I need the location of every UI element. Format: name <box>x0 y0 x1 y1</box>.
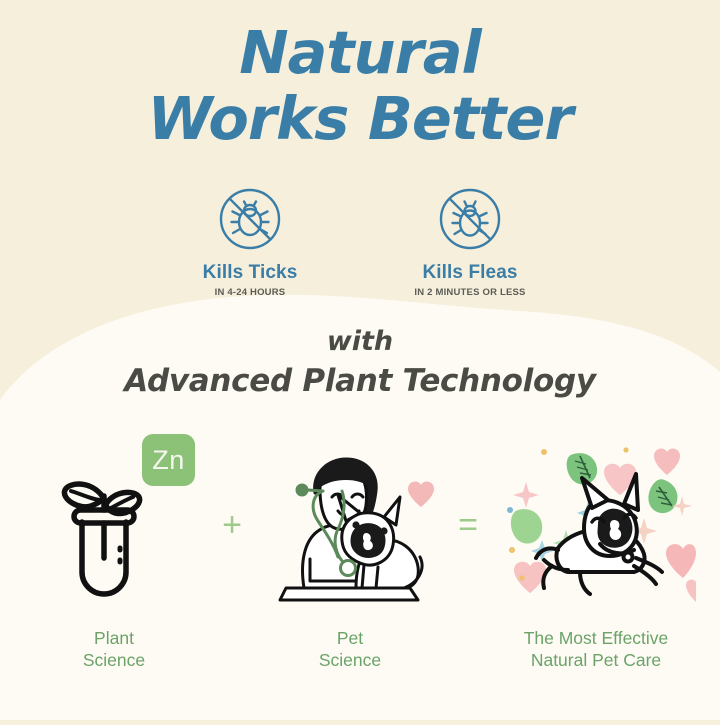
label-line-1: The Most Effective <box>524 628 669 648</box>
poster-canvas: Natural Works Better <box>0 0 720 720</box>
equation-item-pet-science: Pet Science <box>255 430 445 672</box>
plus-operator: + <box>209 430 255 620</box>
label-line-1: Plant <box>94 628 134 648</box>
claim-subtitle: IN 2 MINUTES OR LESS <box>390 287 550 298</box>
equation-item-plant-science: Zn <box>19 430 209 672</box>
equals-operator: = <box>445 430 491 620</box>
label-line-2: Natural Pet Care <box>531 650 661 670</box>
happy-dog-icon <box>491 430 701 620</box>
zinc-badge: Zn <box>142 434 195 486</box>
equation-item-label: Plant Science <box>19 628 209 672</box>
heart-shape <box>408 481 434 506</box>
claims-row: Kills Ticks IN 4-24 HOURS <box>0 182 720 298</box>
no-tick-icon <box>170 182 330 256</box>
claim-title: Kills Fleas <box>390 262 550 284</box>
page-title: Natural Works Better <box>0 24 720 148</box>
no-flea-icon <box>390 182 550 256</box>
label-line-2: Science <box>319 650 381 670</box>
label-line-1: Pet <box>337 628 363 648</box>
subhead-line-1: with <box>0 326 720 357</box>
equation-item-label: Pet Science <box>255 628 445 672</box>
claim-subtitle: IN 4-24 HOURS <box>170 287 330 298</box>
headline-line-1: Natural <box>0 24 720 82</box>
test-tube-plant-icon: Zn <box>19 430 209 620</box>
label-line-2: Science <box>83 650 145 670</box>
claim-kills-ticks: Kills Ticks IN 4-24 HOURS <box>170 182 330 298</box>
claim-kills-fleas: Kills Fleas IN 2 MINUTES OR LESS <box>390 182 550 298</box>
subhead-line-2: Advanced Plant Technology <box>0 363 720 399</box>
vet-with-dog-icon <box>255 430 445 620</box>
equation-row: Zn <box>0 430 720 672</box>
claim-title: Kills Ticks <box>170 262 330 284</box>
headline-line-2: Works Better <box>0 90 720 148</box>
equation-item-label: The Most Effective Natural Pet Care <box>491 628 701 672</box>
subhead: with Advanced Plant Technology <box>0 326 720 399</box>
equation-item-result: The Most Effective Natural Pet Care <box>491 430 701 672</box>
